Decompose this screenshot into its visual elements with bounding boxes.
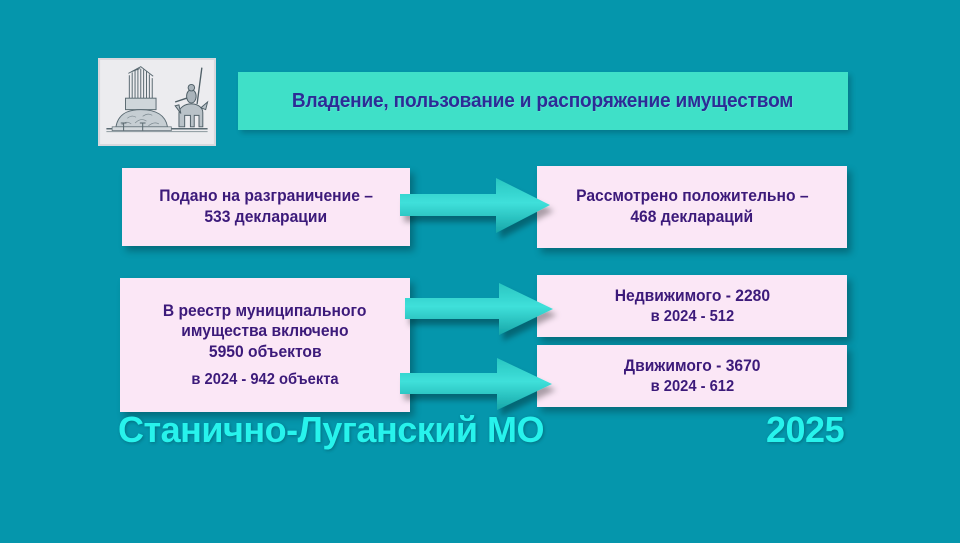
reviewed-positively-box: Рассмотрено положительно – 468 деклараци…	[537, 166, 847, 248]
box-e-line-2: в 2024 - 612	[650, 377, 734, 397]
box-c-line-4: в 2024 - 942 объекта	[191, 370, 338, 390]
municipal-property-register-box: В реестр муниципального имущества включе…	[120, 278, 410, 412]
box-c-line-3: 5950 объектов	[209, 342, 322, 363]
box-d-line-1: Недвижимого - 2280	[614, 286, 769, 307]
box-b-line-2: 468 деклараций	[631, 207, 754, 228]
box-e-line-1: Движимого - 3670	[624, 356, 761, 377]
footer-year-label: 2025	[766, 409, 844, 451]
movable-property-box: Движимого - 3670 в 2024 - 612	[537, 345, 847, 407]
box-a-line-2: 533 декларации	[205, 207, 328, 228]
box-c-line-2: имущества включено	[181, 321, 348, 342]
box-b-line-1: Рассмотрено положительно –	[576, 186, 808, 207]
box-a-line-1: Подано на разграничение –	[159, 186, 373, 207]
presentation-slide: Владение, пользование и распоряжение иму…	[0, 0, 960, 543]
arrow-register-to-movable-icon	[400, 358, 552, 416]
monument-emblem-icon	[98, 58, 216, 146]
arrow-register-to-immovable-icon	[405, 283, 553, 341]
arrow-submitted-to-reviewed-icon	[400, 178, 550, 240]
box-d-line-2: в 2024 - 512	[650, 307, 734, 327]
box-c-line-1: В реестр муниципального	[163, 301, 367, 322]
immovable-property-box: Недвижимого - 2280 в 2024 - 512	[537, 275, 847, 337]
page-title: Владение, пользование и распоряжение иму…	[292, 89, 793, 113]
slide-title-banner: Владение, пользование и распоряжение иму…	[238, 72, 848, 130]
footer-municipality-label: Станично-Луганский МО	[118, 409, 544, 451]
submitted-for-delimitation-box: Подано на разграничение – 533 декларации	[122, 168, 410, 246]
